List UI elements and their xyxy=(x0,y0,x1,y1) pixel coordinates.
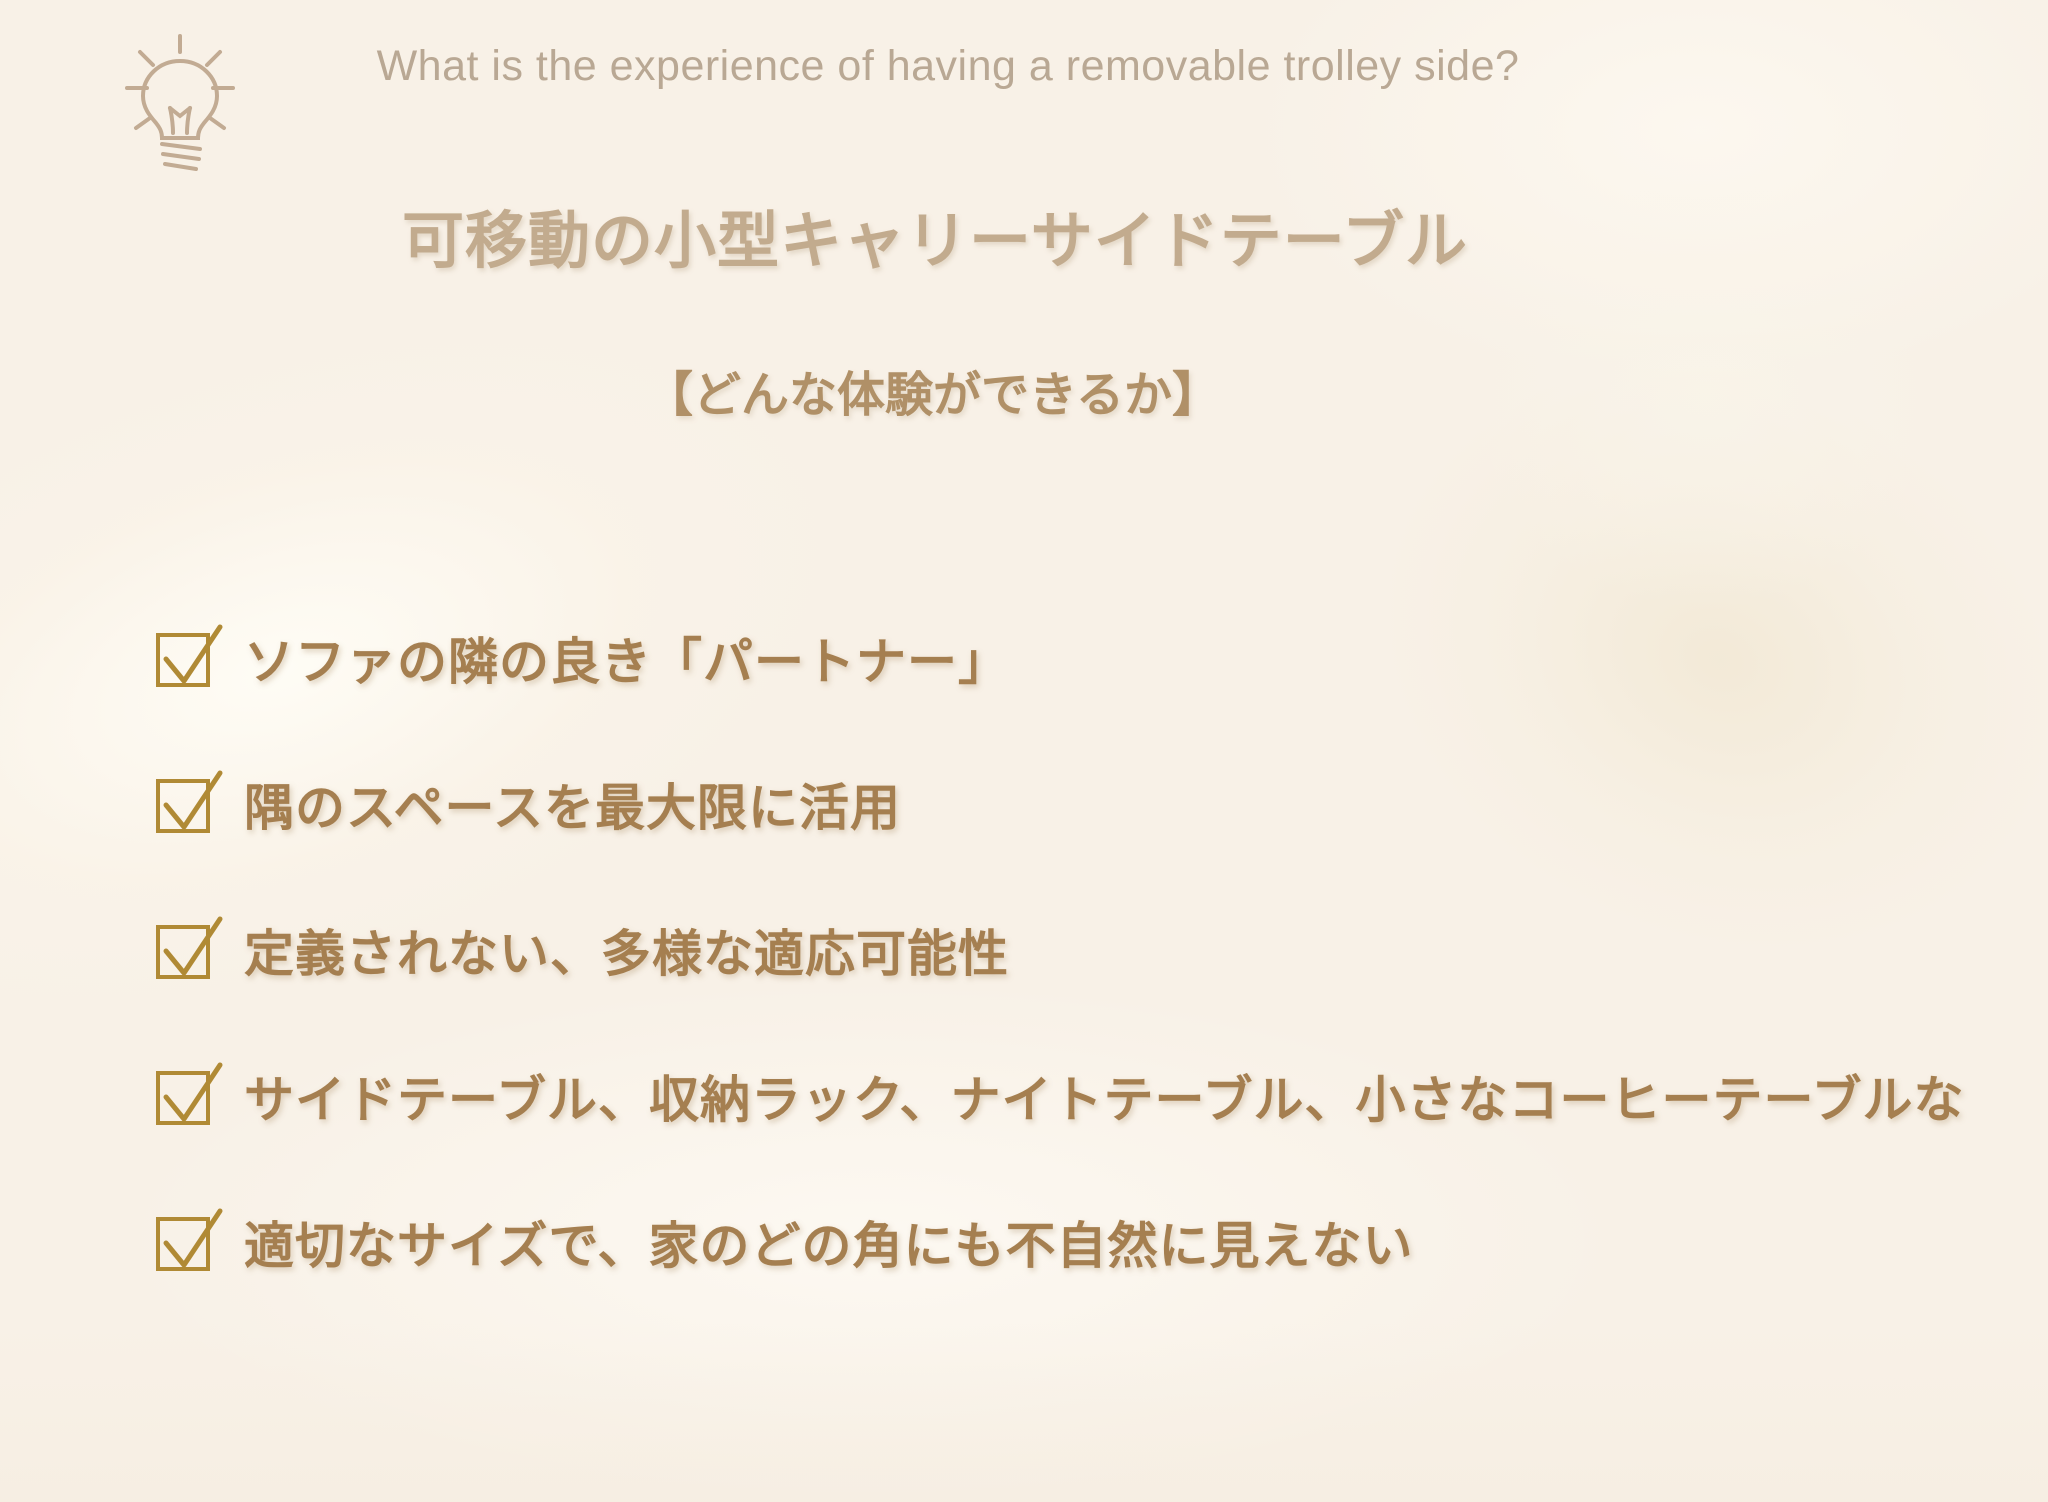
list-item: 適切なサイズで、家のどの角にも不自然に見えない xyxy=(150,1169,2048,1315)
list-item-label: 隅のスペースを最大限に活用 xyxy=(244,768,901,840)
checked-checkbox-icon xyxy=(150,915,228,985)
list-item: ソファの隣の良き「パートナー」 xyxy=(150,585,2048,731)
page-subtitle: 【どんな体験ができるか】 xyxy=(0,355,1865,425)
slide-question: What is the experience of having a remov… xyxy=(0,42,1896,91)
list-item-label: ソファの隣の良き「パートナー」 xyxy=(244,622,1009,694)
checked-checkbox-icon xyxy=(150,1207,228,1277)
list-item-label: 適切なサイズで、家のどの角にも不自然に見えない xyxy=(244,1206,1414,1278)
background-vignette xyxy=(0,1322,2048,1502)
list-item-label: サイドテーブル、収納ラック、ナイトテーブル、小さなコーヒーテーブルな xyxy=(244,1060,1965,1132)
list-item-label: 定義されない、多様な適応可能性 xyxy=(244,914,1009,986)
list-item: サイドテーブル、収納ラック、ナイトテーブル、小さなコーヒーテーブルな xyxy=(150,1023,2048,1169)
checked-checkbox-icon xyxy=(150,1061,228,1131)
page-title: 可移動の小型キャリーサイドテーブル xyxy=(0,190,1870,280)
slide-canvas: What is the experience of having a remov… xyxy=(0,0,2048,1502)
checked-checkbox-icon xyxy=(150,769,228,839)
list-item: 隅のスペースを最大限に活用 xyxy=(150,731,2048,877)
checked-checkbox-icon xyxy=(150,623,228,693)
checklist: ソファの隣の良き「パートナー」 隅のスペースを最大限に活用 定義されない、多様な… xyxy=(150,585,2048,1315)
list-item: 定義されない、多様な適応可能性 xyxy=(150,877,2048,1023)
